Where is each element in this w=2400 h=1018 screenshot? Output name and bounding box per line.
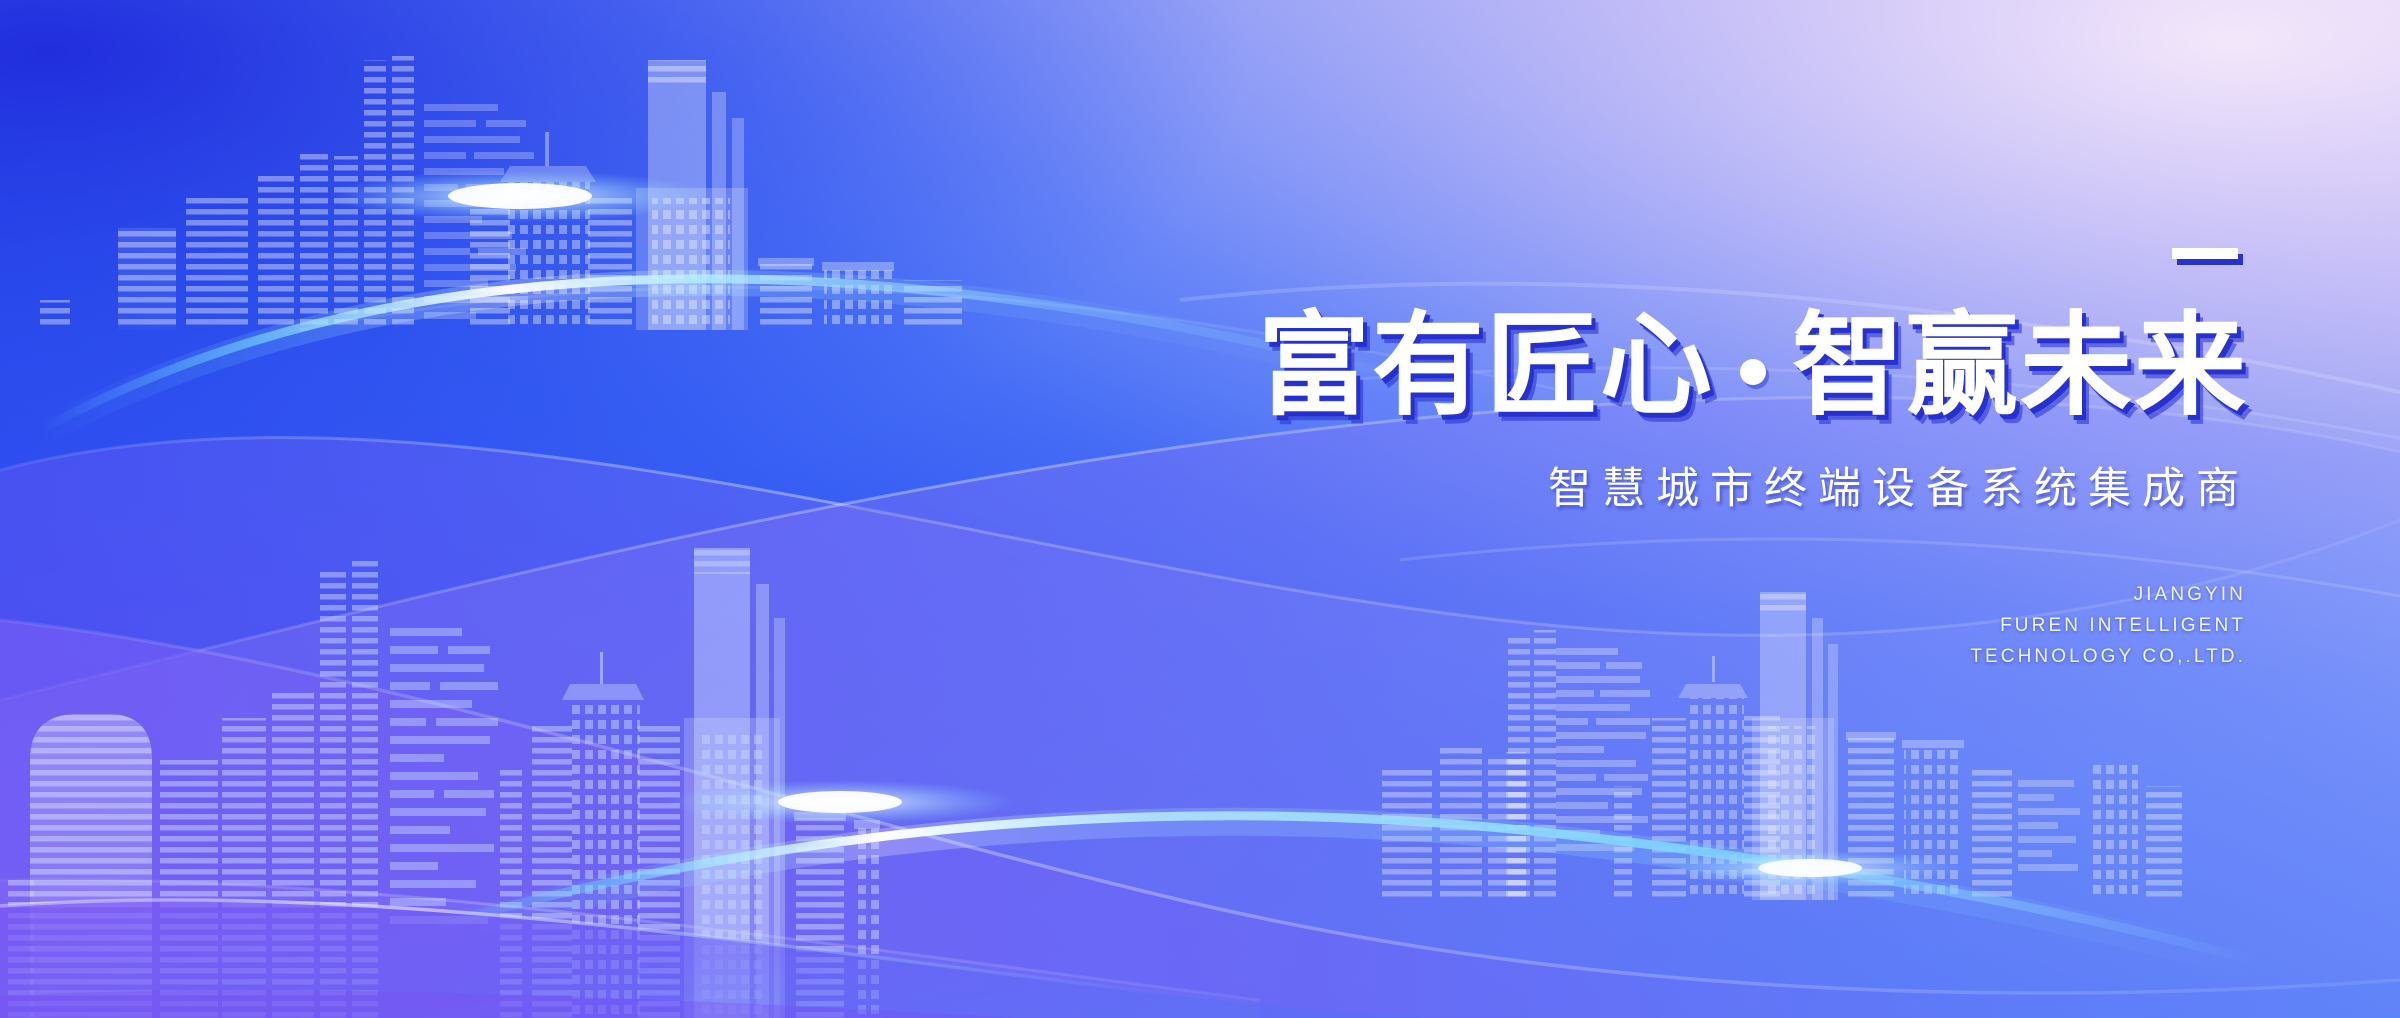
banner-root: 富有匠心智赢未来 智慧城市终端设备系统集成商 JIANGYIN FUREN IN… [0,0,2400,1018]
company-line-3: TECHNOLOGY CO,.LTD. [1012,642,2246,673]
headline-separator-dot [1740,359,1766,385]
company-line-1: JIANGYIN [1012,580,2246,611]
dash-accent-icon [2172,248,2238,259]
headline-right-text: 智赢未来 [1792,301,2248,431]
company-line-2: FUREN INTELLIGENT [1012,611,2246,642]
headline-group: 富有匠心智赢未来 智慧城市终端设备系统集成商 JIANGYIN FUREN IN… [1012,248,2252,673]
headline-left-text: 富有匠心 [1258,301,1714,431]
company-name-block: JIANGYIN FUREN INTELLIGENT TECHNOLOGY CO… [1012,580,2252,672]
page-subtitle: 智慧城市终端设备系统集成商 [1012,454,2252,516]
page-title: 富有匠心智赢未来 [1012,308,2252,424]
